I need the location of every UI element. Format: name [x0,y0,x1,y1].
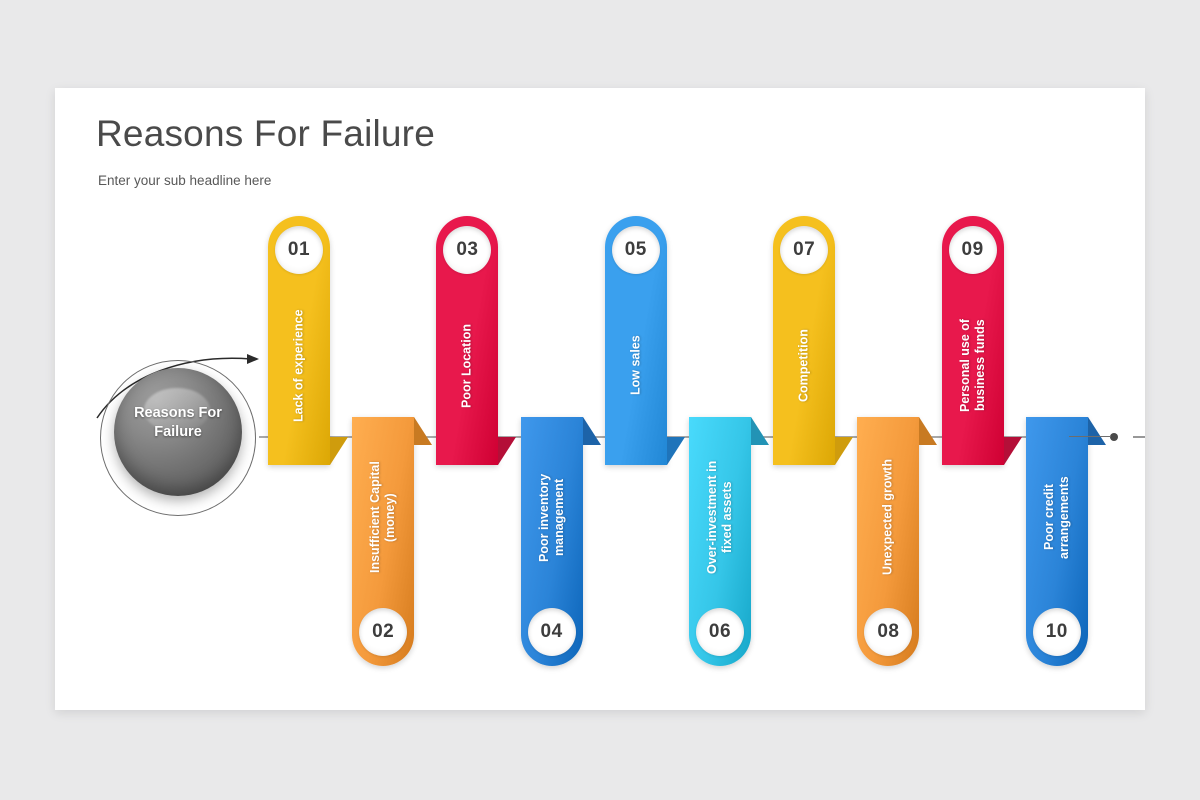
page-title: Reasons For Failure [96,113,435,155]
ribbon-number-badge: 10 [1033,608,1081,656]
hub-label-line-2: Failure [154,424,202,440]
ribbon-label: Competition [797,282,812,449]
hub-node[interactable]: Reasons For Failure [100,360,260,520]
ribbon-item-10[interactable]: Poor creditarrangements10 [1026,417,1088,666]
ribbon-item-03[interactable]: Poor Location03 [436,216,498,465]
page-subtitle: Enter your sub headline here [98,173,271,188]
ribbon-item-05[interactable]: Low sales05 [605,216,667,465]
ribbon-number-badge: 02 [359,608,407,656]
ribbon-label: Poor inventorymanagement [537,433,567,602]
ribbon-number-badge: 06 [696,608,744,656]
ribbon-item-08[interactable]: Unexpected growth08 [857,417,919,666]
hub-label-line-1: Reasons For [134,405,222,421]
ribbon-label: Poor creditarrangements [1042,433,1072,602]
ribbon-item-07[interactable]: Competition07 [773,216,835,465]
ribbon-fold-corner [1088,417,1106,445]
slide-stage: Reasons For Failure Enter your sub headl… [0,0,1200,800]
ribbon-label: Insufficient Capital(money) [368,433,398,602]
ribbon-fold-corner [751,417,769,445]
ribbon-label: Personal use ofbusiness funds [958,282,988,449]
slide-canvas: Reasons For Failure Enter your sub headl… [55,88,1145,710]
ribbon-fold-corner [414,417,432,445]
ribbon-fold-corner [583,417,601,445]
ribbon-fold-corner [1004,437,1022,465]
ribbon-number-badge: 01 [275,226,323,274]
ribbon-number-badge: 07 [780,226,828,274]
flow-end-dot [1110,433,1118,441]
ribbon-number-badge: 09 [949,226,997,274]
ribbon-item-04[interactable]: Poor inventorymanagement04 [521,417,583,666]
flow-end-segment [1069,436,1111,437]
ribbon-label: Poor Location [460,282,475,449]
ribbon-item-06[interactable]: Over-investment infixed assets06 [689,417,751,666]
ribbon-label: Unexpected growth [881,433,896,602]
ribbon-fold-corner [498,437,516,465]
ribbon-label: Lack of experience [292,282,307,449]
ribbon-label: Low sales [628,282,643,449]
ribbon-item-02[interactable]: Insufficient Capital(money)02 [352,417,414,666]
ribbon-item-01[interactable]: Lack of experience01 [268,216,330,465]
hub-label: Reasons For Failure [100,404,256,442]
ribbon-fold-corner [919,417,937,445]
ribbon-number-badge: 04 [528,608,576,656]
ribbon-fold-corner [835,437,853,465]
ribbon-number-badge: 05 [612,226,660,274]
ribbon-fold-corner [330,437,348,465]
ribbon-label: Over-investment infixed assets [705,433,735,602]
ribbon-item-09[interactable]: Personal use ofbusiness funds09 [942,216,1004,465]
ribbon-fold-corner [667,437,685,465]
